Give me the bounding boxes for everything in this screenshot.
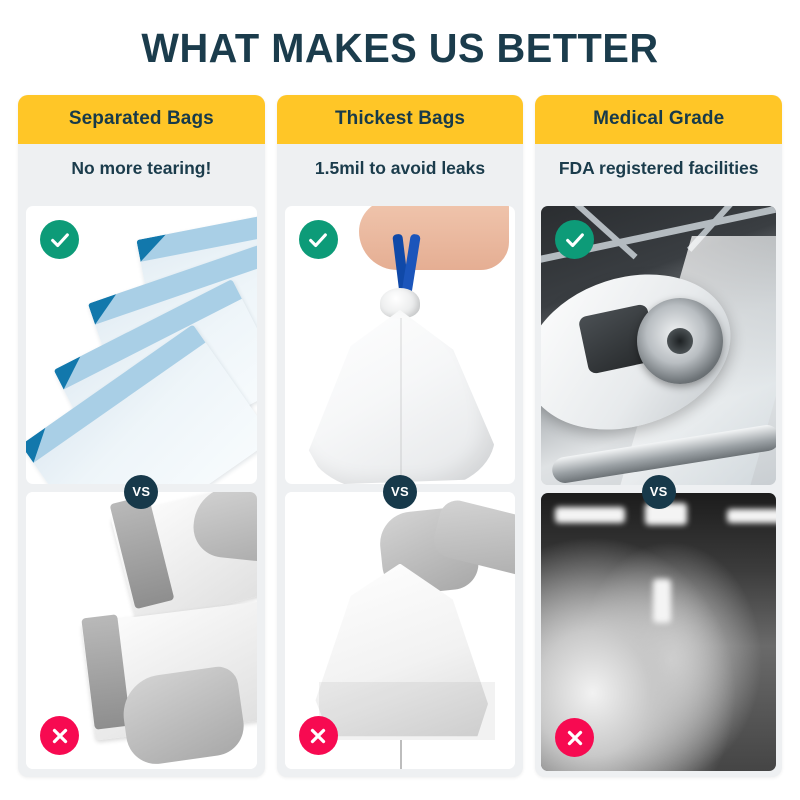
comparison-columns: Separated Bags No more tearing! VS	[0, 95, 800, 777]
bad-panel	[26, 492, 257, 770]
vs-badge: VS	[124, 475, 158, 509]
card-header-label: Thickest Bags	[277, 95, 524, 144]
card-panels: VS	[18, 206, 265, 777]
card-panels: VS	[535, 206, 782, 777]
card-panels: VS	[277, 206, 524, 777]
bad-panel	[541, 493, 776, 772]
vs-badge: VS	[383, 475, 417, 509]
comparison-card-separated-bags: Separated Bags No more tearing! VS	[18, 95, 265, 777]
card-subtitle: 1.5mil to avoid leaks	[277, 144, 524, 206]
page-title: WHAT MAKES US BETTER	[12, 0, 788, 69]
card-header-label: Medical Grade	[535, 95, 782, 144]
comparison-card-medical-grade: Medical Grade FDA registered facilities	[535, 95, 782, 777]
good-panel	[26, 206, 257, 484]
card-header-label: Separated Bags	[18, 95, 265, 144]
comparison-card-thickest-bags: Thickest Bags 1.5mil to avoid leaks	[277, 95, 524, 777]
cross-icon	[299, 716, 338, 755]
good-panel	[285, 206, 516, 484]
cross-icon	[40, 716, 79, 755]
vs-badge: VS	[642, 475, 676, 509]
check-icon	[40, 220, 79, 259]
bad-panel	[285, 492, 516, 770]
infographic-page: WHAT MAKES US BETTER Separated Bags No m…	[0, 0, 800, 800]
card-subtitle: FDA registered facilities	[535, 144, 782, 206]
check-icon	[299, 220, 338, 259]
card-subtitle: No more tearing!	[18, 144, 265, 206]
good-panel	[541, 206, 776, 485]
